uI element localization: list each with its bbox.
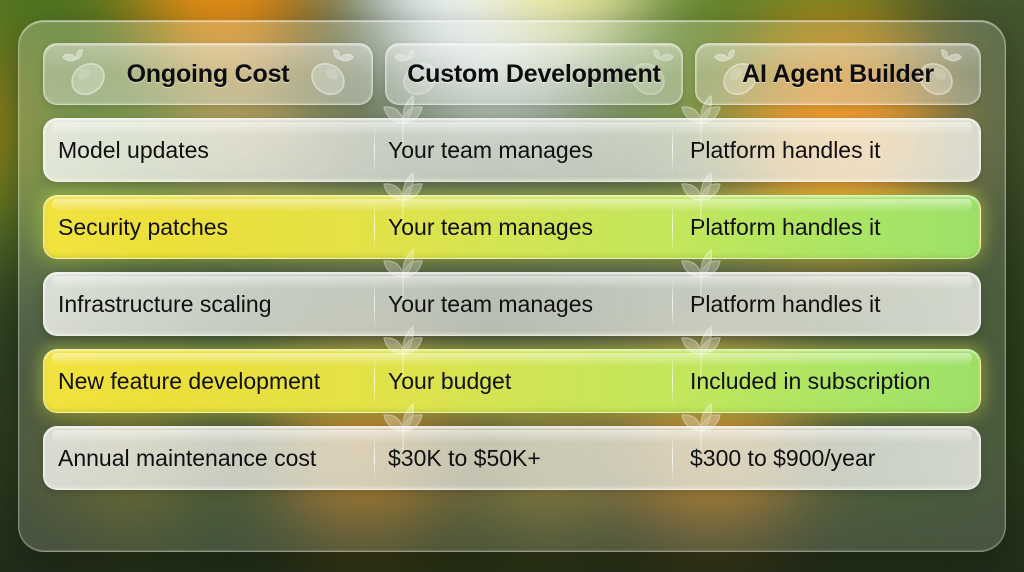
table-header-cell-ongoing-cost: Ongoing Cost bbox=[43, 43, 373, 105]
table-cell: Model updates bbox=[44, 119, 374, 181]
table-cell: Infrastructure scaling bbox=[44, 273, 374, 335]
table-header-label: Custom Development bbox=[407, 60, 660, 89]
table-cell: Your team manages bbox=[374, 196, 672, 258]
comparison-table-panel: Ongoing Cost bbox=[18, 20, 1006, 552]
table-header-label: AI Agent Builder bbox=[742, 60, 934, 89]
table-cell: $30K to $50K+ bbox=[374, 427, 672, 489]
lemon-icon bbox=[60, 49, 116, 101]
table-row[interactable]: Annual maintenance cost $30K to $50K+ $3… bbox=[43, 426, 981, 490]
table-row[interactable]: Security patches Your team manages Platf… bbox=[43, 195, 981, 259]
table-header-row: Ongoing Cost bbox=[43, 43, 981, 105]
table-cell: Your team manages bbox=[374, 273, 672, 335]
table-cell: Platform handles it bbox=[672, 196, 980, 258]
table-row[interactable]: Model updates Your team manages Platform… bbox=[43, 118, 981, 182]
table-cell: Security patches bbox=[44, 196, 374, 258]
table-cell: Annual maintenance cost bbox=[44, 427, 374, 489]
table-cell: Your budget bbox=[374, 350, 672, 412]
table-header-cell-ai-agent-builder: AI Agent Builder bbox=[695, 43, 981, 105]
screenshot-root: Ongoing Cost bbox=[0, 0, 1024, 572]
table-cell: New feature development bbox=[44, 350, 374, 412]
table-cell: Included in subscription bbox=[672, 350, 980, 412]
table-cell: $300 to $900/year bbox=[672, 427, 980, 489]
table-body: Model updates Your team manages Platform… bbox=[43, 118, 981, 529]
table-cell: Platform handles it bbox=[672, 119, 980, 181]
table-row[interactable]: Infrastructure scaling Your team manages… bbox=[43, 272, 981, 336]
table-row[interactable]: New feature development Your budget Incl… bbox=[43, 349, 981, 413]
table-header-label: Ongoing Cost bbox=[127, 60, 290, 89]
table-header-cell-custom-development: Custom Development bbox=[385, 43, 683, 105]
table-cell: Platform handles it bbox=[672, 273, 980, 335]
lemon-icon bbox=[300, 49, 356, 101]
table-cell: Your team manages bbox=[374, 119, 672, 181]
